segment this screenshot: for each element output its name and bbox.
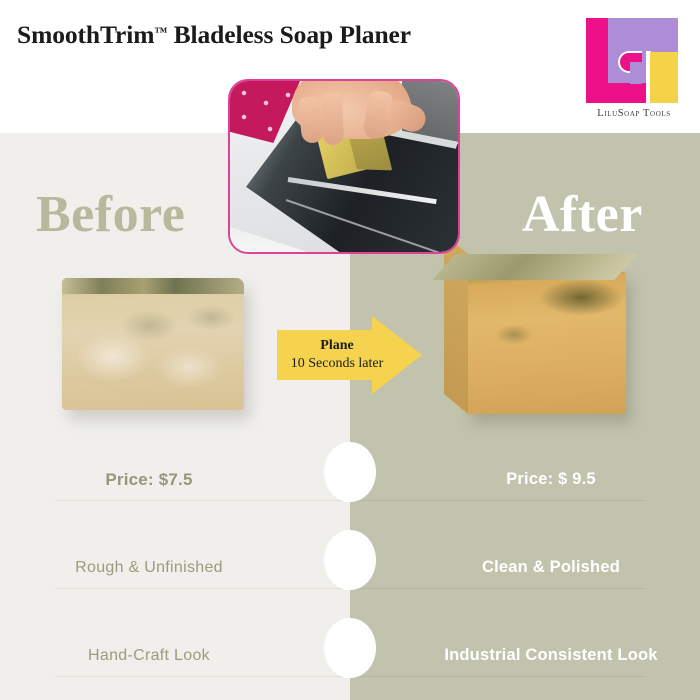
page-title: SmoothTrim™ Bladeless Soap Planer [17, 20, 411, 50]
before-value-price: Price: $7.5 [105, 470, 192, 490]
row-divider-left [55, 500, 343, 501]
arrow-head-icon [372, 316, 422, 394]
row-divider-right [358, 676, 645, 677]
before-value-finish: Rough & Unfinished [75, 559, 223, 577]
after-heading: After [522, 185, 643, 244]
before-cell: Price: $7.5 [0, 442, 350, 517]
before-heading: Before [36, 185, 185, 244]
after-cell: Clean & Polished [350, 530, 700, 605]
logo-yellow-bar [650, 52, 678, 103]
arrow-label-main: Plane [277, 338, 397, 354]
row-marker-circle [324, 442, 376, 502]
row-marker-circle [324, 618, 376, 678]
arrow-label-sub: 10 Seconds later [277, 356, 397, 372]
row-divider-left [55, 588, 343, 589]
title-rest: Bladeless Soap Planer [167, 20, 411, 49]
plane-arrow-callout: Plane 10 Seconds later [277, 316, 422, 394]
brand-name-label: LiluSoap Tools [586, 108, 682, 119]
brand-logo[interactable]: LiluSoap Tools [586, 18, 682, 128]
photo-finger [321, 93, 344, 146]
logo-mark-icon [586, 18, 678, 103]
after-value-finish: Clean & Polished [482, 558, 620, 577]
row-divider-left [55, 676, 343, 677]
after-value-look: Industrial Consistent Look [444, 646, 657, 665]
after-value-price: Price: $ 9.5 [506, 470, 596, 489]
row-marker-circle [324, 530, 376, 590]
before-soap-top-edge [62, 278, 244, 294]
row-divider-right [358, 500, 645, 501]
before-cell: Rough & Unfinished [0, 530, 350, 605]
infographic-canvas: SmoothTrim™ Bladeless Soap Planer LiluSo… [0, 0, 700, 700]
after-soap-top-face [432, 254, 637, 280]
title-brand: SmoothTrim [17, 20, 154, 49]
logo-purple-top-block [608, 18, 678, 54]
before-cell: Hand-Craft Look [0, 618, 350, 693]
after-cell: Price: $ 9.5 [350, 442, 700, 517]
photo-finger [298, 96, 325, 144]
after-soap-image [466, 272, 626, 414]
after-cell: Industrial Consistent Look [350, 618, 700, 693]
trademark-symbol: ™ [154, 24, 167, 39]
before-value-look: Hand-Craft Look [88, 647, 210, 665]
hero-product-photo [228, 79, 460, 254]
before-soap-image [62, 278, 244, 410]
row-divider-right [358, 588, 645, 589]
